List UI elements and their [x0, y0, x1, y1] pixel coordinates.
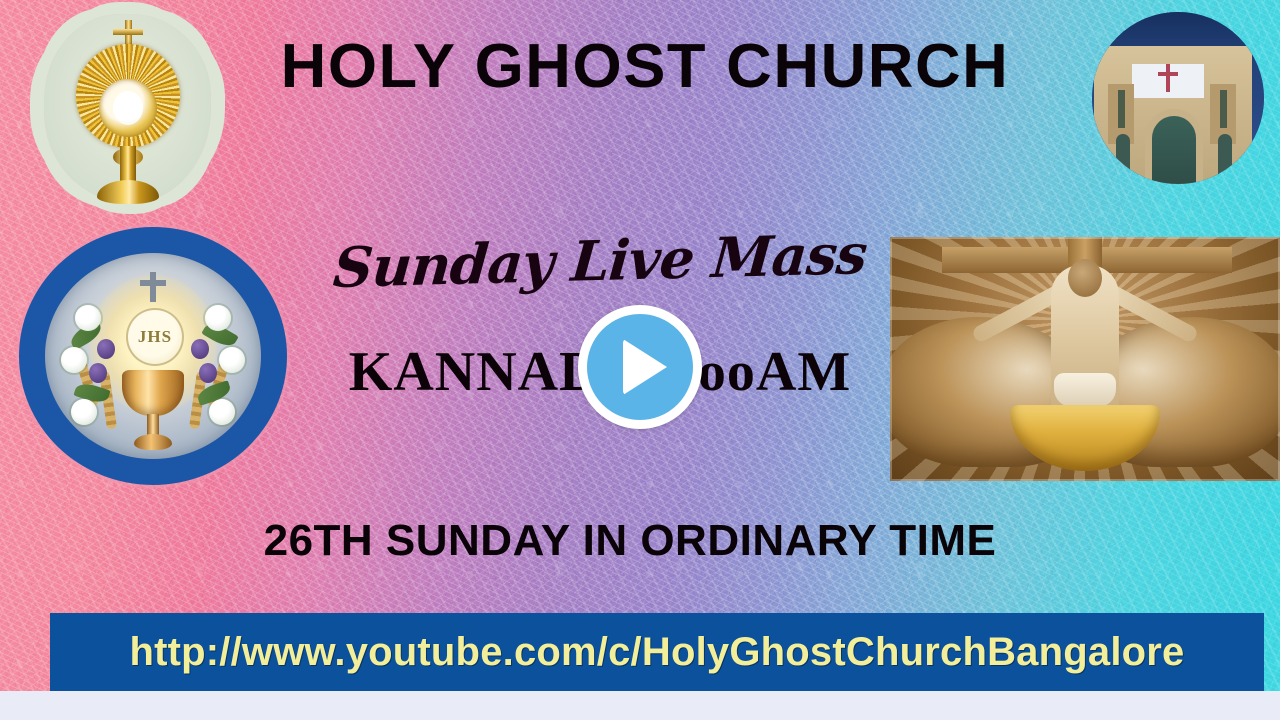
church-building-photo [1092, 12, 1264, 184]
grape-right [191, 339, 209, 359]
chalice-jhs-emblem: JHS [19, 227, 287, 485]
emblem-chalice-cup [122, 370, 184, 416]
liturgical-day-text: 26TH SUNDAY IN ORDINARY TIME [150, 516, 1110, 566]
monstrance-icon [30, 8, 225, 208]
lily-right-1 [205, 305, 231, 331]
channel-url-banner[interactable]: http://www.youtube.com/c/HolyGhostChurch… [50, 613, 1264, 691]
emblem-artwork: JHS [45, 253, 261, 459]
crucifix-image-frame [890, 237, 1280, 481]
church-window-right [1218, 134, 1232, 182]
page-title: HOLY GHOST CHURCH [242, 34, 1048, 99]
monstrance-base [97, 180, 159, 204]
church-tower-slit-left [1118, 90, 1125, 128]
lily-left-3 [71, 399, 97, 425]
lily-right-2 [219, 347, 245, 373]
grape-right-2 [199, 363, 217, 383]
emblem-cross-horizontal [140, 280, 166, 286]
play-button[interactable] [578, 305, 702, 429]
lily-right-3 [209, 399, 235, 425]
church-window-left [1116, 134, 1130, 182]
church-arched-window [1152, 116, 1196, 184]
play-triangle-icon [623, 339, 667, 395]
lily-left-1 [75, 305, 101, 331]
church-roof-cross-horizontal [1158, 72, 1178, 76]
thumbnail-canvas: JHS [0, 0, 1280, 720]
channel-url-text: http://www.youtube.com/c/HolyGhostChurch… [129, 630, 1184, 675]
grape-left-2 [89, 363, 107, 383]
monstrance-host [113, 91, 143, 125]
lily-left-2 [61, 347, 87, 373]
monstrance-cross-horizontal [113, 29, 143, 35]
grape-left [97, 339, 115, 359]
emblem-cross-vertical [150, 272, 156, 302]
church-roof-cross-vertical [1166, 64, 1170, 92]
bottom-strip [0, 691, 1280, 720]
emblem-host-monogram: JHS [126, 308, 184, 366]
crucifixion-with-chalice-image [890, 237, 1280, 481]
church-tower-slit-right [1220, 90, 1227, 128]
church-photo-facade [1094, 46, 1252, 184]
emblem-chalice-base [134, 434, 172, 450]
